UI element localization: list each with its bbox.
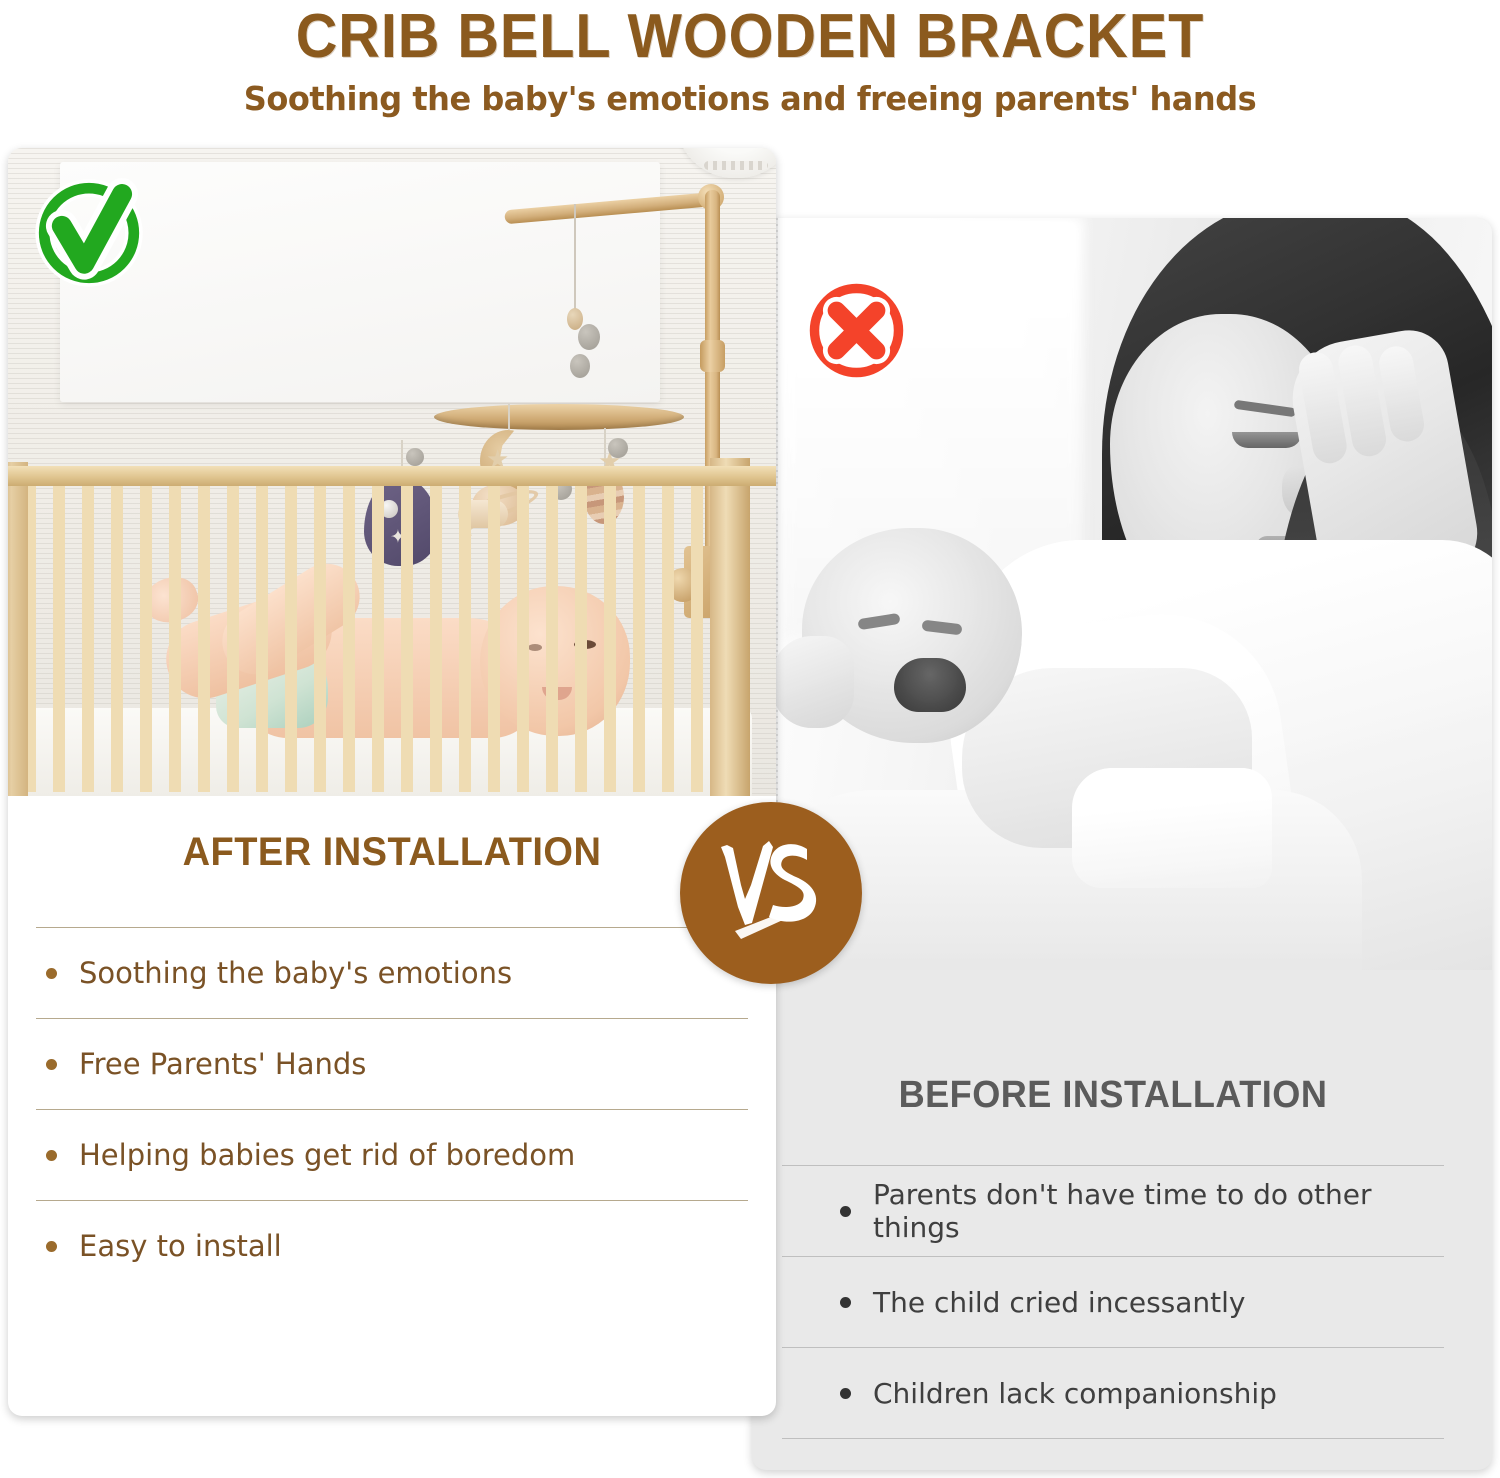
page-subtitle: Soothing the baby's emotions and freeing… xyxy=(23,79,1478,118)
baby-eye-right xyxy=(921,620,962,636)
vs-brush-text-icon xyxy=(711,833,831,953)
baby-hand xyxy=(772,636,854,728)
list-item: Soothing the baby's emotions xyxy=(34,928,750,1018)
comparison-stage: BEFORE INSTALLATION Parents don't have t… xyxy=(0,140,1500,1478)
list-item-label: The child cried incessantly xyxy=(873,1286,1246,1319)
mother-eye xyxy=(1232,432,1302,448)
list-item-label: Parents don't have time to do other thin… xyxy=(873,1178,1446,1244)
crib-post-right xyxy=(710,458,750,796)
header: CRIB BELL WOODEN BRACKET Soothing the ba… xyxy=(0,0,1500,118)
crib-post-left xyxy=(8,462,28,796)
before-section-title: BEFORE INSTALLATION xyxy=(797,1074,1430,1117)
wooden-crib xyxy=(8,466,776,796)
list-item: Children lack companionship xyxy=(780,1348,1446,1438)
bullet-dot-icon xyxy=(46,1059,57,1070)
felt-ball xyxy=(578,324,600,350)
bullet-dot-icon xyxy=(840,1297,851,1308)
page-title: CRIB BELL WOODEN BRACKET xyxy=(53,4,1448,69)
mobile-hanging-cord xyxy=(574,204,576,314)
baby-eye-left xyxy=(857,613,900,630)
list-item: Free Parents' Hands xyxy=(34,1019,750,1109)
felt-ball xyxy=(406,448,424,466)
felt-ball xyxy=(608,438,628,458)
bullet-dot-icon xyxy=(840,1206,851,1217)
baby-nappy xyxy=(1072,768,1272,888)
bullet-dot-icon xyxy=(46,968,57,979)
bullet-dot-icon xyxy=(46,1150,57,1161)
crib-bars xyxy=(24,480,724,792)
list-item: Helping babies get rid of boredom xyxy=(34,1110,750,1200)
baby-open-mouth xyxy=(894,658,966,712)
list-item-label: Soothing the baby's emotions xyxy=(79,956,512,990)
vs-badge xyxy=(680,802,862,984)
after-installation-card: ✦ xyxy=(8,148,776,1416)
after-content: AFTER INSTALLATION Soothing the baby's e… xyxy=(8,808,776,1408)
green-check-circle-icon xyxy=(30,174,148,292)
list-item: Unable to soothe the baby's emotions xyxy=(780,1439,1446,1470)
list-item: The child cried incessantly xyxy=(780,1257,1446,1347)
list-item-label: Free Parents' Hands xyxy=(79,1047,366,1081)
list-item-label: Children lack companionship xyxy=(873,1377,1277,1410)
before-content: BEFORE INSTALLATION Parents don't have t… xyxy=(752,1058,1492,1470)
after-section-title: AFTER INSTALLATION xyxy=(52,830,732,875)
list-item-label: Easy to install xyxy=(79,1229,282,1263)
list-item-label: Unable to soothe the baby's emotions xyxy=(873,1468,1406,1471)
mobile-wooden-ring xyxy=(434,404,684,430)
list-item-label: Helping babies get rid of boredom xyxy=(79,1138,575,1172)
list-item: Parents don't have time to do other thin… xyxy=(780,1166,1446,1256)
crib-top-rail xyxy=(8,466,776,486)
before-installation-card: BEFORE INSTALLATION Parents don't have t… xyxy=(752,218,1492,1470)
red-x-circle-icon xyxy=(804,278,909,383)
bullet-dot-icon xyxy=(840,1388,851,1399)
bullet-dot-icon xyxy=(46,1241,57,1252)
list-item: Easy to install xyxy=(34,1201,750,1291)
